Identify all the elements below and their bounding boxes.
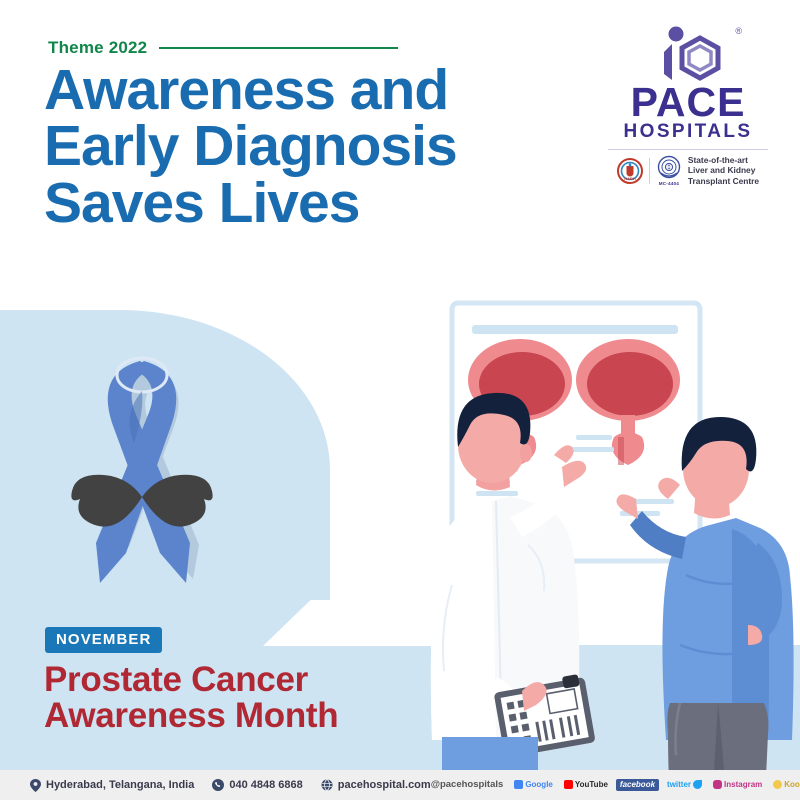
koo-bird-icon: [773, 780, 782, 789]
social-instagram[interactable]: Instagram: [710, 779, 765, 792]
footer-location: Hyderabad, Telangana, India: [30, 779, 194, 792]
social-twitter[interactable]: twitter: [664, 779, 705, 792]
phone-icon: [212, 779, 224, 791]
accreditation-line-3: Transplant Centre: [688, 176, 759, 187]
page-title: Awareness and Early Diagnosis Saves Live…: [44, 62, 644, 231]
social-twitter-label: twitter: [667, 780, 691, 791]
accreditation-row: NABH MC-4404 State-of-the-art Liver and …: [598, 155, 778, 187]
google-icon: [514, 780, 523, 789]
footer-website[interactable]: pacehospital.com: [321, 779, 431, 791]
social-facebook[interactable]: facebook: [616, 779, 659, 792]
social-facebook-label: facebook: [620, 780, 655, 791]
accreditation-text: State-of-the-art Liver and Kidney Transp…: [688, 155, 759, 187]
campaign-title: Prostate Cancer Awareness Month: [44, 662, 338, 734]
social-koo-label: Koo: [784, 780, 800, 791]
accreditation-divider: [649, 158, 650, 184]
social-google-label: Google: [525, 780, 553, 791]
social-instagram-label: Instagram: [724, 780, 762, 791]
footer-phone-text: 040 4848 6868: [229, 779, 302, 791]
theme-label: Theme 2022: [48, 38, 147, 58]
awareness-ribbon-icon: [48, 345, 238, 590]
headline-line-1: Awareness and: [44, 62, 644, 118]
headline-line-3: Saves Lives: [44, 175, 644, 231]
registered-trademark-icon: ®: [735, 26, 742, 36]
logo-name: PACE: [598, 84, 778, 122]
nabl-badge-sub: MC-4404: [659, 181, 679, 187]
footer-bar: Hyderabad, Telangana, India 040 4848 686…: [0, 770, 800, 800]
twitter-bird-icon: [693, 780, 702, 789]
medical-consultation-illustration: [380, 285, 800, 770]
footer-website-text: pacehospital.com: [338, 779, 431, 791]
headline-line-2: Early Diagnosis: [44, 118, 644, 174]
location-pin-icon: [30, 779, 41, 792]
accreditation-line-2: Liver and Kidney: [688, 165, 759, 176]
nabl-badge: MC-4404: [656, 155, 682, 187]
nabh-badge: NABH: [617, 158, 643, 184]
footer-location-text: Hyderabad, Telangana, India: [46, 779, 194, 791]
campaign-title-line-1: Prostate Cancer: [44, 662, 338, 698]
social-youtube[interactable]: YouTube: [561, 779, 611, 792]
social-koo[interactable]: Koo: [770, 779, 800, 792]
svg-text:NABH: NABH: [624, 176, 636, 181]
youtube-icon: [564, 780, 573, 789]
social-youtube-label: YouTube: [575, 780, 608, 791]
campaign-title-line-2: Awareness Month: [44, 698, 338, 734]
footer-contacts: Hyderabad, Telangana, India 040 4848 686…: [30, 779, 431, 792]
status-badge: NOVEMBER: [45, 627, 162, 653]
accreditation-line-1: State-of-the-art: [688, 155, 759, 166]
logo-divider: [608, 149, 768, 150]
footer-phone[interactable]: 040 4848 6868: [212, 779, 302, 791]
logo-subtitle: HOSPITALS: [598, 122, 778, 143]
poster-canvas: Theme 2022 Awareness and Early Diagnosis…: [0, 0, 800, 800]
theme-row: Theme 2022: [48, 38, 398, 58]
logo-hexagon-icon: ®: [598, 22, 778, 84]
brand-logo: ® PACE HOSPITALS NABH: [598, 22, 778, 187]
social-google[interactable]: Google: [511, 779, 556, 792]
theme-divider: [159, 47, 398, 49]
social-handle: @pacehospitals: [431, 779, 504, 790]
instagram-icon: [713, 780, 722, 789]
footer-social-row: @pacehospitals Google YouTube facebook t…: [431, 779, 800, 792]
globe-icon: [321, 779, 333, 791]
